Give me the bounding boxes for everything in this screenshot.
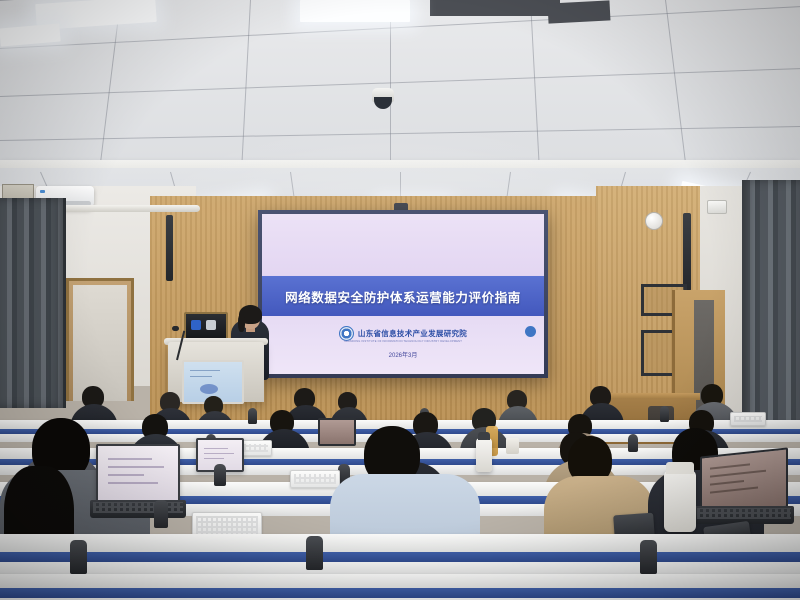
organization-name-cn: 山东省信息技术产业发展研究院 xyxy=(358,328,467,339)
left-door-panel xyxy=(73,285,127,401)
screen-text-line xyxy=(108,466,164,468)
dome-security-camera-icon xyxy=(372,88,394,102)
right-curtain[interactable] xyxy=(742,180,800,440)
presenter-hair xyxy=(239,305,262,324)
desk-surface xyxy=(0,534,800,552)
monitor-content-line xyxy=(190,370,220,371)
screen-text-line xyxy=(710,480,744,486)
wall-clock-icon xyxy=(645,212,663,230)
conference-microphone[interactable] xyxy=(660,406,669,422)
slide-date: 2026年3月 xyxy=(262,350,544,359)
right-wall-speaker xyxy=(683,213,691,291)
ceiling-dark-tile xyxy=(430,0,560,16)
ceiling-far-section xyxy=(0,0,800,172)
monitor-content-line xyxy=(190,376,212,377)
thermos-cap xyxy=(666,462,694,474)
screen-text-line xyxy=(204,453,234,454)
slide-title: 网络数据安全防护体系运营能力评价指南 xyxy=(262,276,544,316)
laptop-keyboard[interactable] xyxy=(90,500,186,518)
conference-microphone[interactable] xyxy=(306,536,323,570)
organization-logo-row: 山东省信息技术产业发展研究院 xyxy=(262,326,544,341)
monitor-content-shape xyxy=(200,384,218,394)
screen-text-line xyxy=(710,487,758,494)
podium-microphone-icon xyxy=(172,326,179,331)
paper-cup[interactable] xyxy=(506,438,519,454)
organization-name-en: SHANDONG INSTITUTE OF INFORMATION TECHNO… xyxy=(262,340,544,343)
av-panel-button-icon[interactable] xyxy=(206,320,216,330)
projection-screen: 网络数据安全防护体系运营能力评价指南 山东省信息技术产业发展研究院 SHANDO… xyxy=(258,210,548,378)
conference-microphone[interactable] xyxy=(154,500,168,528)
conference-microphone[interactable] xyxy=(248,408,257,424)
ceiling-tile-line xyxy=(390,0,391,165)
keyboard-keys xyxy=(697,508,791,519)
presentation-slide: 网络数据安全防护体系运营能力评价指南 山东省信息技术产业发展研究院 SHANDO… xyxy=(262,214,544,374)
conference-microphone[interactable] xyxy=(628,434,638,452)
slide-corner-badge xyxy=(525,326,536,337)
screen-text-line xyxy=(710,463,750,469)
desk-keypad[interactable] xyxy=(290,470,340,488)
screen-text-line xyxy=(108,474,144,476)
thermos-bottle[interactable] xyxy=(664,470,696,532)
screen-text-line xyxy=(108,458,152,460)
left-wall-speaker xyxy=(166,215,173,281)
laptop-screen xyxy=(318,418,356,446)
thermos-bottle[interactable] xyxy=(476,438,492,472)
keyboard-keys xyxy=(93,502,183,513)
ceiling-dark-tile xyxy=(548,0,611,23)
conference-microphone[interactable] xyxy=(214,464,226,486)
air-conditioner-led-icon xyxy=(40,190,45,193)
ceiling-light-panel xyxy=(300,0,410,22)
desk-surface xyxy=(0,574,800,588)
conference-microphone[interactable] xyxy=(70,540,87,574)
thermos-cap xyxy=(478,432,490,440)
wall-control-box[interactable] xyxy=(707,200,727,214)
left-curtain[interactable] xyxy=(0,198,66,408)
lecture-hall-photo: 网络数据安全防护体系运营能力评价指南 山东省信息技术产业发展研究院 SHANDO… xyxy=(0,0,800,600)
organization-logo-icon xyxy=(339,326,354,341)
av-panel-display-icon xyxy=(191,320,201,330)
desk-stripe xyxy=(0,552,800,562)
screen-text-line xyxy=(108,482,158,484)
desk-keypad[interactable] xyxy=(730,412,766,426)
conference-microphone[interactable] xyxy=(640,540,657,574)
left-door[interactable] xyxy=(66,278,134,401)
laptop-screen xyxy=(96,444,180,504)
screen-text-line xyxy=(710,470,766,478)
desk-stripe xyxy=(0,588,800,598)
screen-text-line xyxy=(204,448,228,449)
screen-text-line xyxy=(204,458,224,459)
